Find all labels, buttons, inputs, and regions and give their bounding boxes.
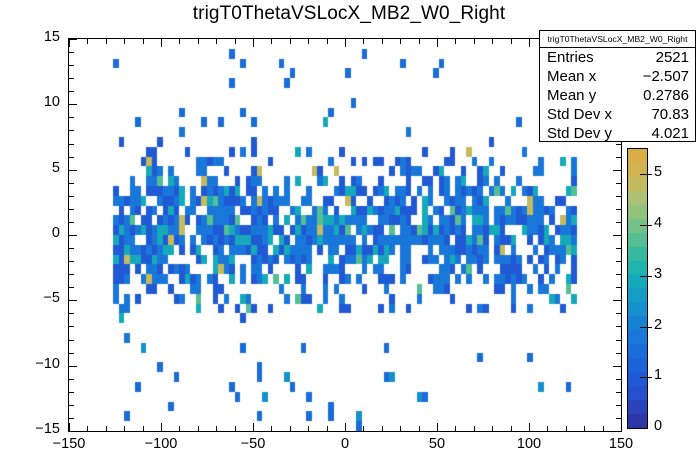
color-scale-segment xyxy=(628,358,647,372)
statistics-key: Std Dev y xyxy=(547,125,612,142)
root-canvas: trigT0ThetaVSLocX_MB2_W0_Right 151050−5−… xyxy=(0,0,698,476)
color-scale-segment xyxy=(628,149,647,163)
y-axis-tick-label: 10 xyxy=(20,97,60,107)
x-axis-tick-label: 100 xyxy=(499,437,559,451)
statistics-key: Std Dev x xyxy=(547,106,612,123)
color-scale-segment xyxy=(628,400,647,414)
color-scale-segment xyxy=(628,288,647,302)
color-scale-tick xyxy=(640,276,652,277)
x-axis-tick-label: 0 xyxy=(315,437,375,451)
page-title: trigT0ThetaVSLocX_MB2_W0_Right xyxy=(0,3,698,25)
color-scale-tick xyxy=(640,174,652,175)
statistics-row: Mean x−2.507 xyxy=(540,67,695,86)
y-axis-tick-label: −15 xyxy=(20,424,60,434)
y-axis-tick-label: 15 xyxy=(20,32,60,42)
x-axis-tick-label: 150 xyxy=(591,437,651,451)
y-axis-tick-label: −5 xyxy=(20,293,60,303)
color-scale-segment xyxy=(628,330,647,344)
x-axis-tick-label: 50 xyxy=(407,437,467,451)
color-scale-tick-label: 2 xyxy=(654,320,662,330)
color-scale-segment xyxy=(628,302,647,316)
color-scale-segment xyxy=(628,191,647,205)
color-scale-segment xyxy=(628,205,647,219)
statistics-row: Std Dev y4.021 xyxy=(540,124,695,143)
color-scale-segment xyxy=(628,344,647,358)
color-scale-tick-label: 0 xyxy=(654,421,662,431)
color-scale-tick xyxy=(640,225,652,226)
statistics-row: Mean y0.2786 xyxy=(540,86,695,105)
y-axis-tick-label: 0 xyxy=(20,228,60,238)
statistics-value: 2521 xyxy=(594,49,689,66)
color-scale-tick xyxy=(640,377,652,378)
statistics-row: Entries2521 xyxy=(540,48,695,67)
statistics-value: 70.83 xyxy=(612,106,689,123)
statistics-rows: Entries2521Mean x−2.507Mean y0.2786Std D… xyxy=(540,48,695,143)
color-scale-tick-label: 4 xyxy=(654,218,662,228)
color-scale-segment xyxy=(628,233,647,247)
statistics-key: Entries xyxy=(547,49,594,66)
color-scale-tick-label: 5 xyxy=(654,167,662,177)
color-scale-tick-label: 1 xyxy=(654,370,662,380)
color-scale-bar xyxy=(627,148,648,429)
color-scale-segment xyxy=(628,372,647,386)
color-scale-tick xyxy=(640,327,652,328)
statistics-box[interactable]: trigT0ThetaVSLocX_MB2_W0_Right Entries25… xyxy=(539,30,696,142)
color-scale-segment xyxy=(628,247,647,261)
color-scale-segment xyxy=(628,177,647,191)
statistics-box-title: trigT0ThetaVSLocX_MB2_W0_Right xyxy=(540,31,695,48)
x-axis-tick-label: −150 xyxy=(39,437,99,451)
statistics-value: −2.507 xyxy=(596,68,689,85)
statistics-value: 0.2786 xyxy=(596,87,689,104)
y-axis-tick-label: 5 xyxy=(20,163,60,173)
statistics-value: 4.021 xyxy=(612,125,689,142)
color-scale-segment xyxy=(628,386,647,400)
color-scale-segment xyxy=(628,316,647,330)
x-axis-tick-label: −50 xyxy=(223,437,283,451)
statistics-row: Std Dev x70.83 xyxy=(540,105,695,124)
color-scale-segment xyxy=(628,414,647,428)
statistics-key: Mean x xyxy=(547,68,596,85)
x-axis-tick-label: −100 xyxy=(131,437,191,451)
color-scale-tick-label: 3 xyxy=(654,269,662,279)
y-axis-tick-label: −10 xyxy=(20,359,60,369)
statistics-key: Mean y xyxy=(547,87,596,104)
color-scale-segment xyxy=(628,261,647,275)
